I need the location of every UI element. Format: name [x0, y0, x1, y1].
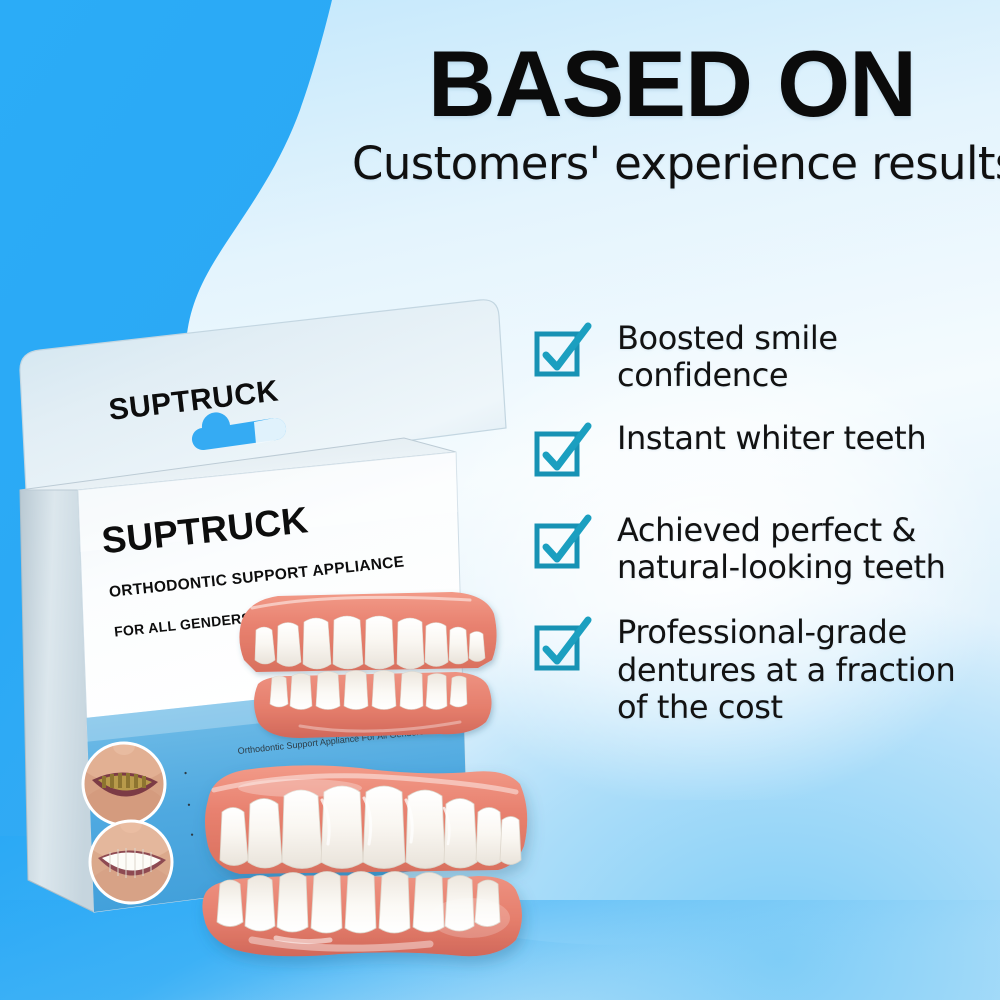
- benefit-item-4: Professional-grade dentures at a fractio…: [533, 612, 993, 725]
- benefit-label: Achieved perfect & natural-looking teeth: [595, 510, 993, 586]
- checkbox-checked-icon: [533, 418, 595, 480]
- benefits-list: Boosted smile confidence Instant whiter …: [533, 318, 993, 750]
- benefit-label: Boosted smile confidence: [595, 318, 993, 394]
- ad-canvas: BASED ON Customers' experience results B…: [0, 0, 1000, 1000]
- checkbox-checked-icon: [533, 318, 595, 380]
- headline-block: BASED ON Customers' experience results: [352, 38, 992, 187]
- page-subtitle: Customers' experience results: [352, 140, 992, 187]
- product-box: SUPTRUCK SUPTRUCK ORTHODONTIC SUPPORT: [6, 252, 526, 932]
- checkbox-checked-icon: [533, 510, 595, 572]
- checkbox-checked-icon: [533, 612, 595, 674]
- benefit-item-3: Achieved perfect & natural-looking teeth: [533, 510, 993, 586]
- benefit-label: Instant whiter teeth: [595, 418, 926, 457]
- benefit-item-1: Boosted smile confidence: [533, 318, 993, 394]
- page-title: BASED ON: [352, 38, 992, 130]
- benefit-item-2: Instant whiter teeth: [533, 418, 993, 480]
- box-front-panel: SUPTRUCK ORTHODONTIC SUPPORT APPLIANCE F…: [66, 452, 476, 932]
- benefit-label: Professional-grade dentures at a fractio…: [595, 612, 993, 725]
